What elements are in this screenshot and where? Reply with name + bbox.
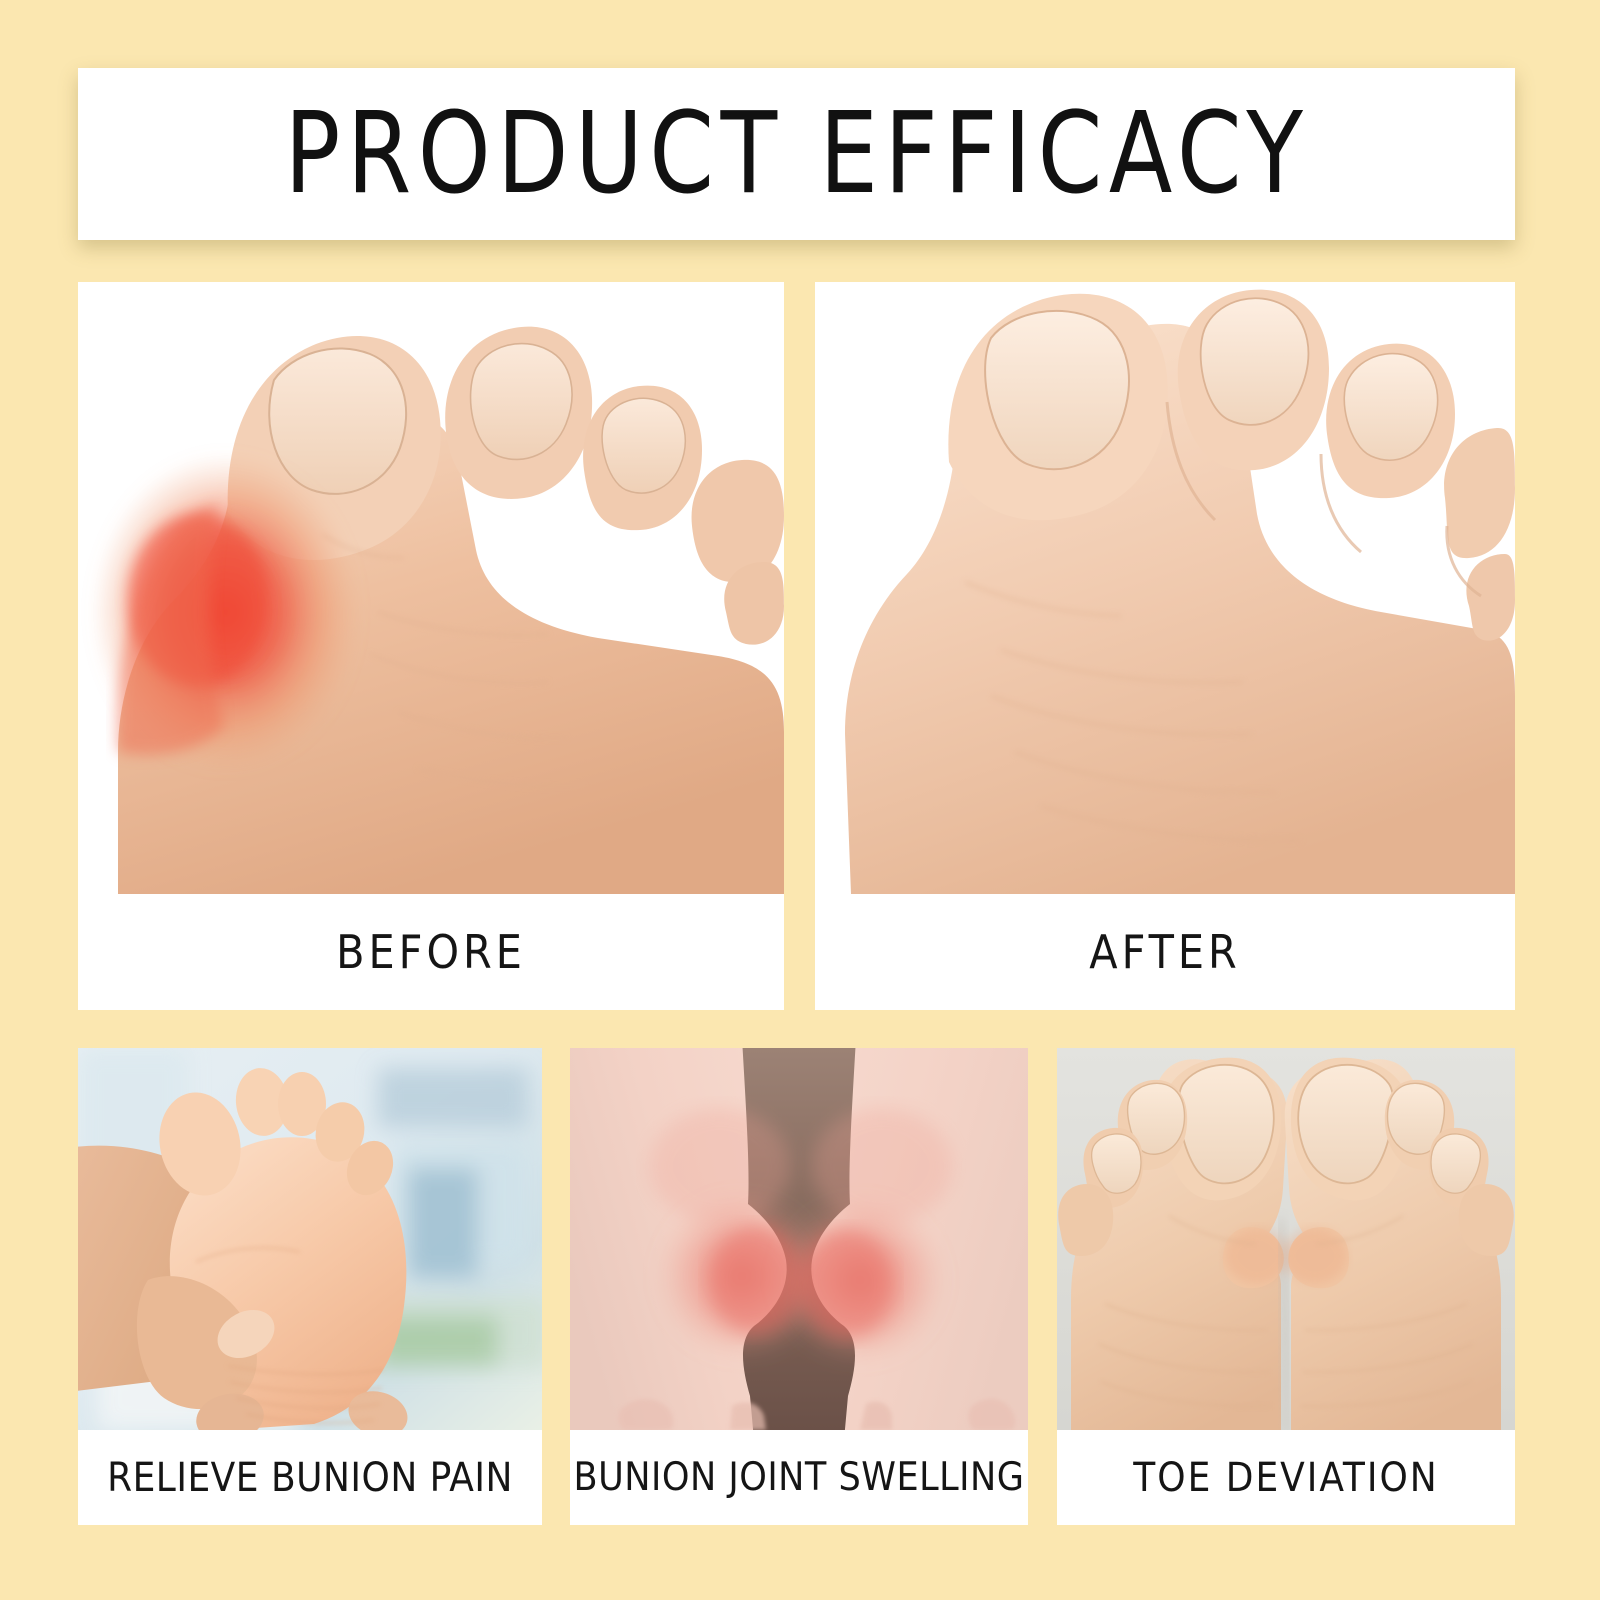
before-caption: BEFORE (78, 894, 784, 1010)
benefit-photo-1 (78, 1048, 542, 1430)
page-title: PRODUCT EFFICACY (284, 98, 1309, 210)
after-photo (815, 282, 1515, 894)
benefit-caption-3: TOE DEVIATION (1057, 1430, 1515, 1525)
before-photo (78, 282, 784, 894)
after-card: AFTER (815, 282, 1515, 1010)
page-title-banner: PRODUCT EFFICACY (78, 68, 1515, 240)
benefit-caption-1: RELIEVE BUNION PAIN (78, 1430, 542, 1525)
before-caption-text: BEFORE (336, 929, 526, 975)
after-caption-text: AFTER (1089, 929, 1240, 975)
benefit-photo-3 (1057, 1048, 1515, 1430)
foot-with-inflamed-bunion-photo (78, 282, 784, 894)
benefit-caption-text-3: TOE DEVIATION (1133, 1458, 1438, 1498)
swollen-bunion-joints-photo (570, 1048, 1028, 1430)
benefit-card-bunion-joint-swelling: BUNION JOINT SWELLING (570, 1048, 1028, 1525)
healthy-foot-photo (815, 282, 1515, 894)
benefit-caption-text-2: BUNION JOINT SWELLING (574, 1458, 1025, 1497)
before-card: BEFORE (78, 282, 784, 1010)
benefit-card-relieve-bunion-pain: RELIEVE BUNION PAIN (78, 1048, 542, 1525)
benefit-photo-2 (570, 1048, 1028, 1430)
benefit-card-toe-deviation: TOE DEVIATION (1057, 1048, 1515, 1525)
after-caption: AFTER (815, 894, 1515, 1010)
deviated-toes-photo (1057, 1048, 1515, 1430)
foot-massage-photo (78, 1048, 542, 1430)
benefit-caption-2: BUNION JOINT SWELLING (570, 1430, 1028, 1525)
benefit-caption-text-1: RELIEVE BUNION PAIN (107, 1458, 513, 1498)
